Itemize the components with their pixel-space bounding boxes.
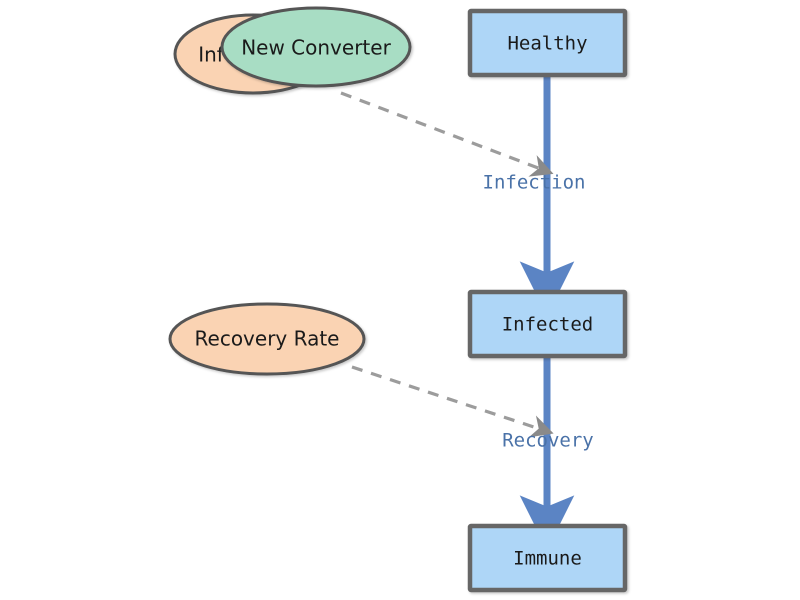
converter-new-converter-label: New Converter — [241, 36, 391, 60]
stock-infected-label: Infected — [502, 314, 594, 336]
flow-recovery-label: Recovery — [502, 430, 594, 452]
stock-infected[interactable]: Infected — [470, 292, 625, 356]
stock-immune[interactable]: Immune — [470, 526, 625, 590]
converter-recovery-rate[interactable]: Recovery Rate — [170, 304, 364, 374]
link-recovery-rate-to-recovery[interactable] — [352, 367, 546, 431]
converter-recovery-rate-label: Recovery Rate — [195, 327, 340, 351]
converter-new-converter[interactable]: New Converter — [222, 8, 410, 86]
link-new-converter-to-infection-line — [341, 93, 546, 171]
link-recovery-rate-to-recovery-line — [352, 367, 546, 431]
stock-immune-label: Immune — [513, 548, 582, 570]
stock-healthy[interactable]: Healthy — [470, 11, 625, 75]
stock-healthy-label: Healthy — [507, 33, 587, 55]
stock-flow-diagram-canvas: Healthy Infected Immune Inf New Converte… — [0, 0, 800, 600]
flow-infection-label: Infection — [483, 172, 586, 194]
link-new-converter-to-infection[interactable] — [341, 93, 546, 171]
